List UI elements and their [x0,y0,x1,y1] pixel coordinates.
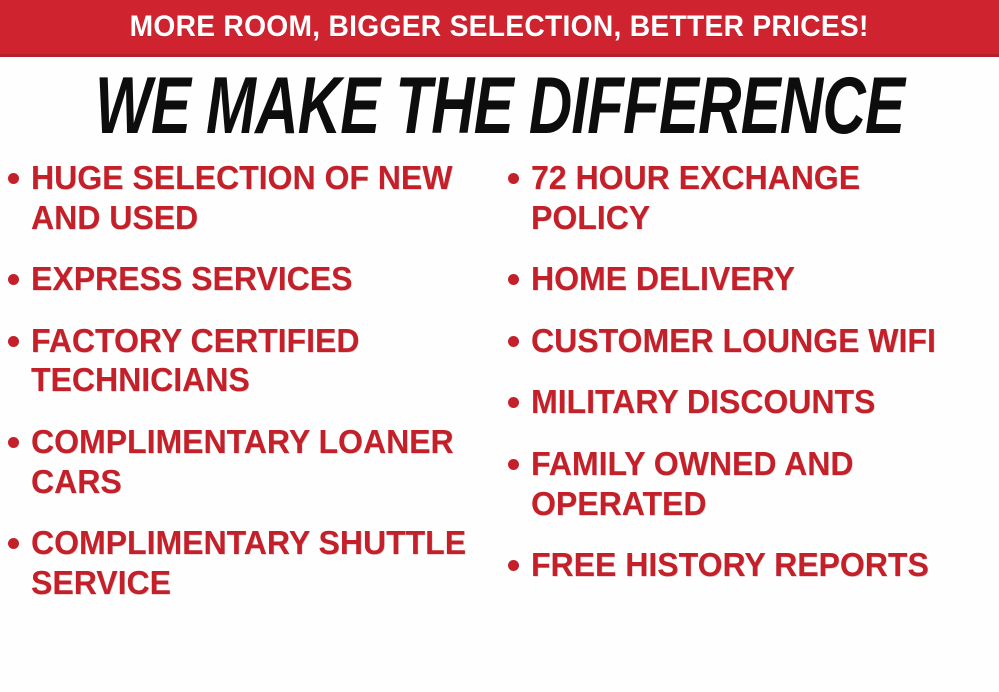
advertisement-banner: MORE ROOM, BIGGER SELECTION, BETTER PRIC… [0,0,999,692]
list-item: COMPLIMENTARY SHUTTLE SERVICE [8,523,503,602]
bullet-dot-icon [8,336,19,347]
list-item-label: FACTORY CERTIFIED TECHNICIANS [31,321,489,400]
list-item: HUGE SELECTION OF NEW AND USED [8,158,503,237]
headline-container: WE MAKE THE DIFFERENCE [0,63,999,148]
bullet-dot-icon [8,274,19,285]
list-item-label: 72 HOUR EXCHANGE POLICY [531,158,985,237]
benefits-column-left: HUGE SELECTION OF NEW AND USED EXPRESS S… [8,158,503,624]
list-item: EXPRESS SERVICES [8,259,503,299]
list-item: FAMILY OWNED AND OPERATED [508,444,999,523]
promo-banner-text: MORE ROOM, BIGGER SELECTION, BETTER PRIC… [130,12,869,42]
bullet-dot-icon [8,173,19,184]
benefits-columns: HUGE SELECTION OF NEW AND USED EXPRESS S… [0,158,999,692]
list-item-label: EXPRESS SERVICES [31,259,489,299]
bullet-dot-icon [508,459,519,470]
page-title: WE MAKE THE DIFFERENCE [95,65,904,146]
bullet-dot-icon [8,437,19,448]
list-item: CUSTOMER LOUNGE WIFI [508,321,999,361]
list-item-label: FAMILY OWNED AND OPERATED [531,444,985,523]
bullet-dot-icon [508,560,519,571]
bullet-dot-icon [508,336,519,347]
list-item-label: HOME DELIVERY [531,259,985,299]
list-item: HOME DELIVERY [508,259,999,299]
list-item: COMPLIMENTARY LOANER CARS [8,422,503,501]
bullet-dot-icon [8,538,19,549]
list-item-label: HUGE SELECTION OF NEW AND USED [31,158,489,237]
list-item: FACTORY CERTIFIED TECHNICIANS [8,321,503,400]
list-item: MILITARY DISCOUNTS [508,382,999,422]
benefits-column-right: 72 HOUR EXCHANGE POLICY HOME DELIVERY CU… [508,158,999,607]
bullet-dot-icon [508,397,519,408]
list-item-label: FREE HISTORY REPORTS [531,545,985,585]
promo-banner: MORE ROOM, BIGGER SELECTION, BETTER PRIC… [0,0,999,57]
list-item-label: MILITARY DISCOUNTS [531,382,985,422]
list-item-label: COMPLIMENTARY LOANER CARS [31,422,489,501]
bullet-dot-icon [508,173,519,184]
list-item: 72 HOUR EXCHANGE POLICY [508,158,999,237]
list-item-label: CUSTOMER LOUNGE WIFI [531,321,985,361]
bullet-dot-icon [508,274,519,285]
list-item: FREE HISTORY REPORTS [508,545,999,585]
list-item-label: COMPLIMENTARY SHUTTLE SERVICE [31,523,489,602]
